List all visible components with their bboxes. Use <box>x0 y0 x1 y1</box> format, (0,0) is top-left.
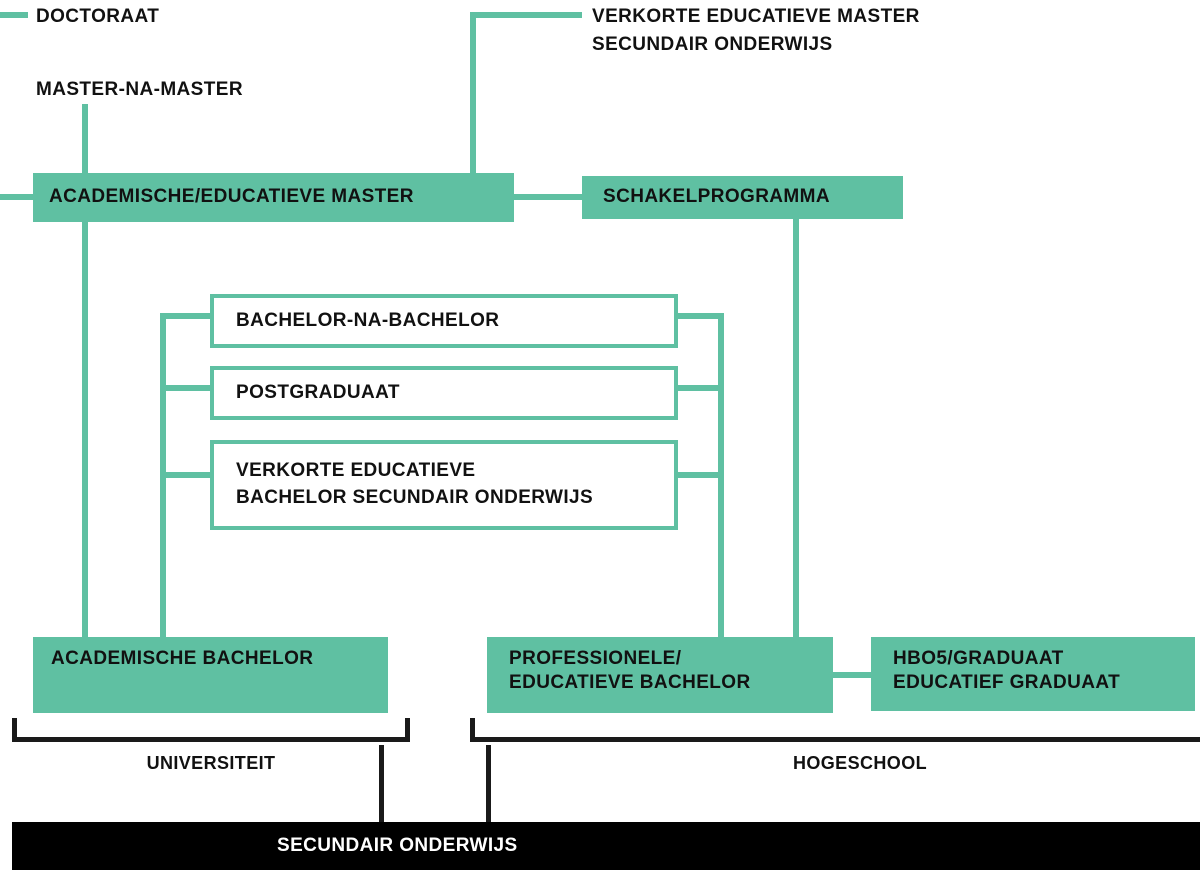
node-label: SECUNDAIR ONDERWIJS <box>277 835 518 857</box>
connector-left-to-postgraduaat <box>160 385 214 391</box>
caption-universiteit: UNIVERSITEIT <box>12 753 410 774</box>
connector-left-to-veb <box>160 472 214 478</box>
node-academische-bachelor: ACADEMISCHE BACHELOR <box>33 637 388 713</box>
connector-right-to-postgraduaat <box>672 385 724 391</box>
bracket-universiteit-right-tick <box>405 718 410 742</box>
bracket-universiteit-bar <box>12 737 410 742</box>
connector-right-to-veb <box>672 472 724 478</box>
connector-left-edge-master <box>0 194 34 200</box>
caption-hogeschool: HOGESCHOOL <box>470 753 1200 774</box>
connector-left-to-bnb <box>160 313 214 319</box>
node-hbo5-graduaat: HBO5/GRADUAAT EDUCATIEF GRADUAAT <box>871 637 1195 711</box>
node-label: VERKORTE EDUCATIEVE BACHELOR SECUNDAIR O… <box>236 458 674 512</box>
node-label: HBO5/GRADUAAT EDUCATIEF GRADUAAT <box>893 647 1195 696</box>
connector-hogeschool-to-secundair <box>486 745 491 823</box>
connector-vem-horizontal <box>470 12 582 18</box>
node-secundair-onderwijs: SECUNDAIR ONDERWIJS <box>12 822 1200 870</box>
connector-vem-vertical <box>470 12 476 176</box>
node-label: SCHAKELPROGRAMMA <box>603 185 903 209</box>
node-professionele-educatieve-bachelor: PROFESSIONELE/ EDUCATIEVE BACHELOR <box>487 637 833 713</box>
connector-universiteit-to-secundair <box>379 745 384 823</box>
node-bachelor-na-bachelor: BACHELOR-NA-BACHELOR <box>210 294 678 348</box>
node-label: ACADEMISCHE BACHELOR <box>51 647 388 671</box>
node-label: ACADEMISCHE/EDUCATIEVE MASTER <box>49 185 514 209</box>
education-structure-diagram: DOCTORAAT MASTER-NA-MASTER VERKORTE EDUC… <box>0 0 1200 881</box>
node-schakelprogramma: SCHAKELPROGRAMMA <box>582 176 903 219</box>
node-academische-educatieve-master: ACADEMISCHE/EDUCATIEVE MASTER <box>33 173 514 222</box>
connector-doctoraat-stub <box>0 12 28 18</box>
node-master-na-master: MASTER-NA-MASTER <box>36 76 243 104</box>
node-label: BACHELOR-NA-BACHELOR <box>236 308 674 335</box>
node-postgraduaat: POSTGRADUAAT <box>210 366 678 420</box>
node-verkorte-educatieve-bachelor: VERKORTE EDUCATIEVE BACHELOR SECUNDAIR O… <box>210 440 678 530</box>
node-label: POSTGRADUAAT <box>236 380 674 407</box>
bracket-hogeschool-bar <box>470 737 1200 742</box>
connector-master-to-academische-bachelor <box>82 222 88 637</box>
connector-professionele-to-hbo5 <box>833 672 871 678</box>
connector-schakel-to-professionele-bachelor <box>793 219 799 637</box>
node-label: PROFESSIONELE/ EDUCATIEVE BACHELOR <box>509 647 833 696</box>
connector-mnm-to-master <box>82 104 88 174</box>
connector-master-to-schakel <box>514 194 582 200</box>
connector-right-to-bnb <box>672 313 724 319</box>
node-verkorte-educatieve-master: VERKORTE EDUCATIEVE MASTER SECUNDAIR OND… <box>592 3 920 58</box>
node-doctoraat: DOCTORAAT <box>36 3 159 31</box>
